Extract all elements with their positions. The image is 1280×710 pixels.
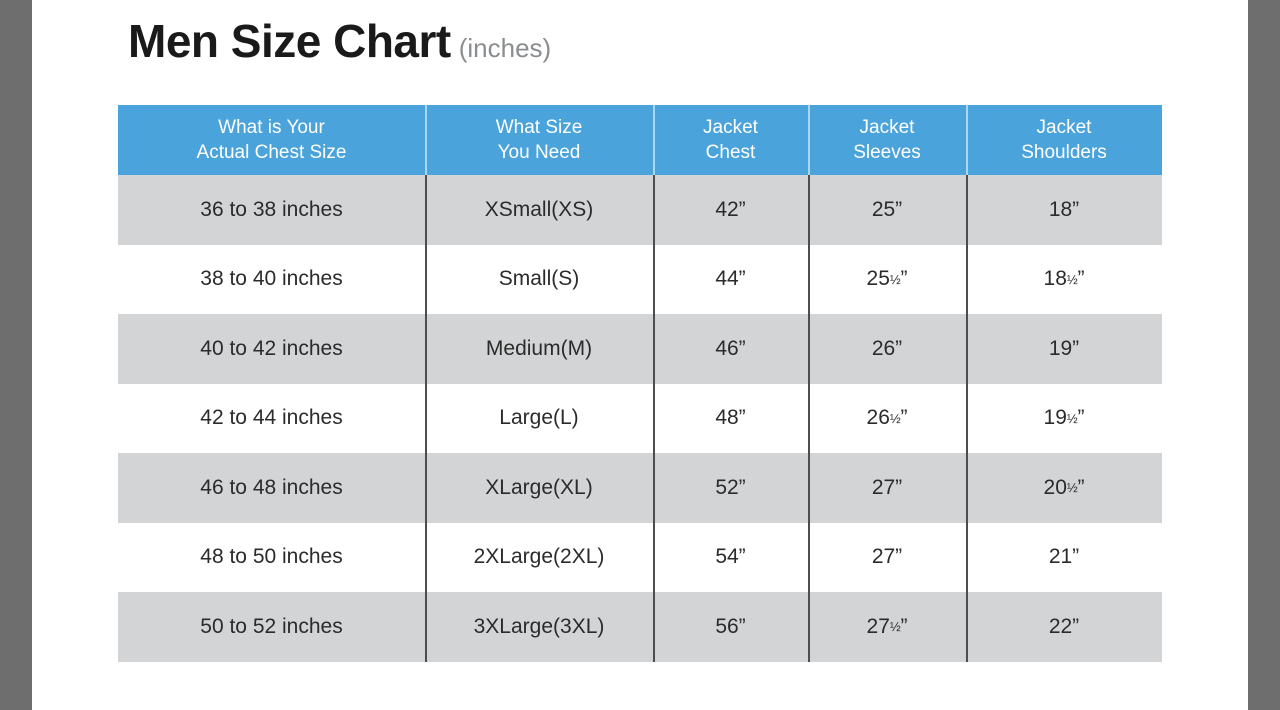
table-row: 40 to 42 inchesMedium(M)46”26”19” (118, 314, 1162, 384)
cell-size-you-need: Small(S) (425, 245, 653, 315)
cell-jacket-chest: 46” (653, 314, 808, 384)
column-header-line-1: What is Your (218, 115, 325, 140)
cell-actual-chest-size: 36 to 38 inches (118, 175, 425, 245)
cell-size-you-need: 2XLarge(2XL) (425, 523, 653, 593)
table-row: 38 to 40 inchesSmall(S)44”25½”18½” (118, 245, 1162, 315)
cell-jacket-sleeves: 26½” (808, 384, 966, 454)
cell-size-you-need: Medium(M) (425, 314, 653, 384)
cell-size-you-need: XSmall(XS) (425, 175, 653, 245)
cell-actual-chest-size: 46 to 48 inches (118, 453, 425, 523)
column-header-jacket-sleeves: Jacket Sleeves (808, 105, 966, 175)
cell-jacket-chest: 44” (653, 245, 808, 315)
letterbox-band-right (1248, 0, 1280, 710)
page-title-unit: (inches) (459, 33, 551, 63)
table-row: 46 to 48 inchesXLarge(XL)52”27”20½” (118, 453, 1162, 523)
cell-size-you-need: 3XLarge(3XL) (425, 592, 653, 662)
size-chart-slide: Men Size Chart(inches) What is Your Actu… (32, 0, 1248, 710)
cell-jacket-sleeves: 27½” (808, 592, 966, 662)
cell-jacket-shoulders: 19½” (966, 384, 1162, 454)
column-header-line-2: Shoulders (1021, 140, 1107, 165)
size-chart-table: What is Your Actual Chest Size What Size… (118, 105, 1162, 662)
cell-actual-chest-size: 42 to 44 inches (118, 384, 425, 454)
cell-jacket-sleeves: 27” (808, 453, 966, 523)
column-header-line-1: Jacket (860, 115, 915, 140)
column-header-line-2: You Need (498, 140, 581, 165)
column-header-jacket-shoulders: Jacket Shoulders (966, 105, 1162, 175)
table-header-row: What is Your Actual Chest Size What Size… (118, 105, 1162, 175)
table-row: 42 to 44 inchesLarge(L)48”26½”19½” (118, 384, 1162, 454)
cell-jacket-chest: 56” (653, 592, 808, 662)
cell-jacket-chest: 48” (653, 384, 808, 454)
column-header-line-1: Jacket (703, 115, 758, 140)
table-row: 50 to 52 inches3XLarge(3XL)56”27½”22” (118, 592, 1162, 662)
cell-jacket-sleeves: 26” (808, 314, 966, 384)
cell-size-you-need: XLarge(XL) (425, 453, 653, 523)
cell-actual-chest-size: 50 to 52 inches (118, 592, 425, 662)
cell-jacket-sleeves: 25” (808, 175, 966, 245)
column-header-jacket-chest: Jacket Chest (653, 105, 808, 175)
table-row: 36 to 38 inchesXSmall(XS)42”25”18” (118, 175, 1162, 245)
page-title: Men Size Chart(inches) (128, 18, 551, 64)
page-title-main: Men Size Chart (128, 15, 451, 67)
cell-jacket-sleeves: 27” (808, 523, 966, 593)
cell-jacket-chest: 52” (653, 453, 808, 523)
letterbox-band-left (0, 0, 32, 710)
cell-actual-chest-size: 38 to 40 inches (118, 245, 425, 315)
column-header-line-2: Sleeves (853, 140, 921, 165)
cell-jacket-shoulders: 20½” (966, 453, 1162, 523)
cell-jacket-shoulders: 18½” (966, 245, 1162, 315)
column-header-line-2: Chest (706, 140, 756, 165)
table-row: 48 to 50 inches2XLarge(2XL)54”27”21” (118, 523, 1162, 593)
cell-jacket-shoulders: 21” (966, 523, 1162, 593)
cell-size-you-need: Large(L) (425, 384, 653, 454)
cell-jacket-chest: 54” (653, 523, 808, 593)
cell-actual-chest-size: 48 to 50 inches (118, 523, 425, 593)
table-body: 36 to 38 inchesXSmall(XS)42”25”18”38 to … (118, 175, 1162, 662)
cell-jacket-shoulders: 18” (966, 175, 1162, 245)
cell-jacket-shoulders: 22” (966, 592, 1162, 662)
column-header-line-2: Actual Chest Size (197, 140, 347, 165)
column-header-line-1: Jacket (1037, 115, 1092, 140)
cell-jacket-shoulders: 19” (966, 314, 1162, 384)
column-header-size-you-need: What Size You Need (425, 105, 653, 175)
column-header-actual-chest-size: What is Your Actual Chest Size (118, 105, 425, 175)
cell-actual-chest-size: 40 to 42 inches (118, 314, 425, 384)
slide-canvas: Men Size Chart(inches) What is Your Actu… (0, 0, 1280, 710)
cell-jacket-sleeves: 25½” (808, 245, 966, 315)
column-header-line-1: What Size (496, 115, 583, 140)
cell-jacket-chest: 42” (653, 175, 808, 245)
